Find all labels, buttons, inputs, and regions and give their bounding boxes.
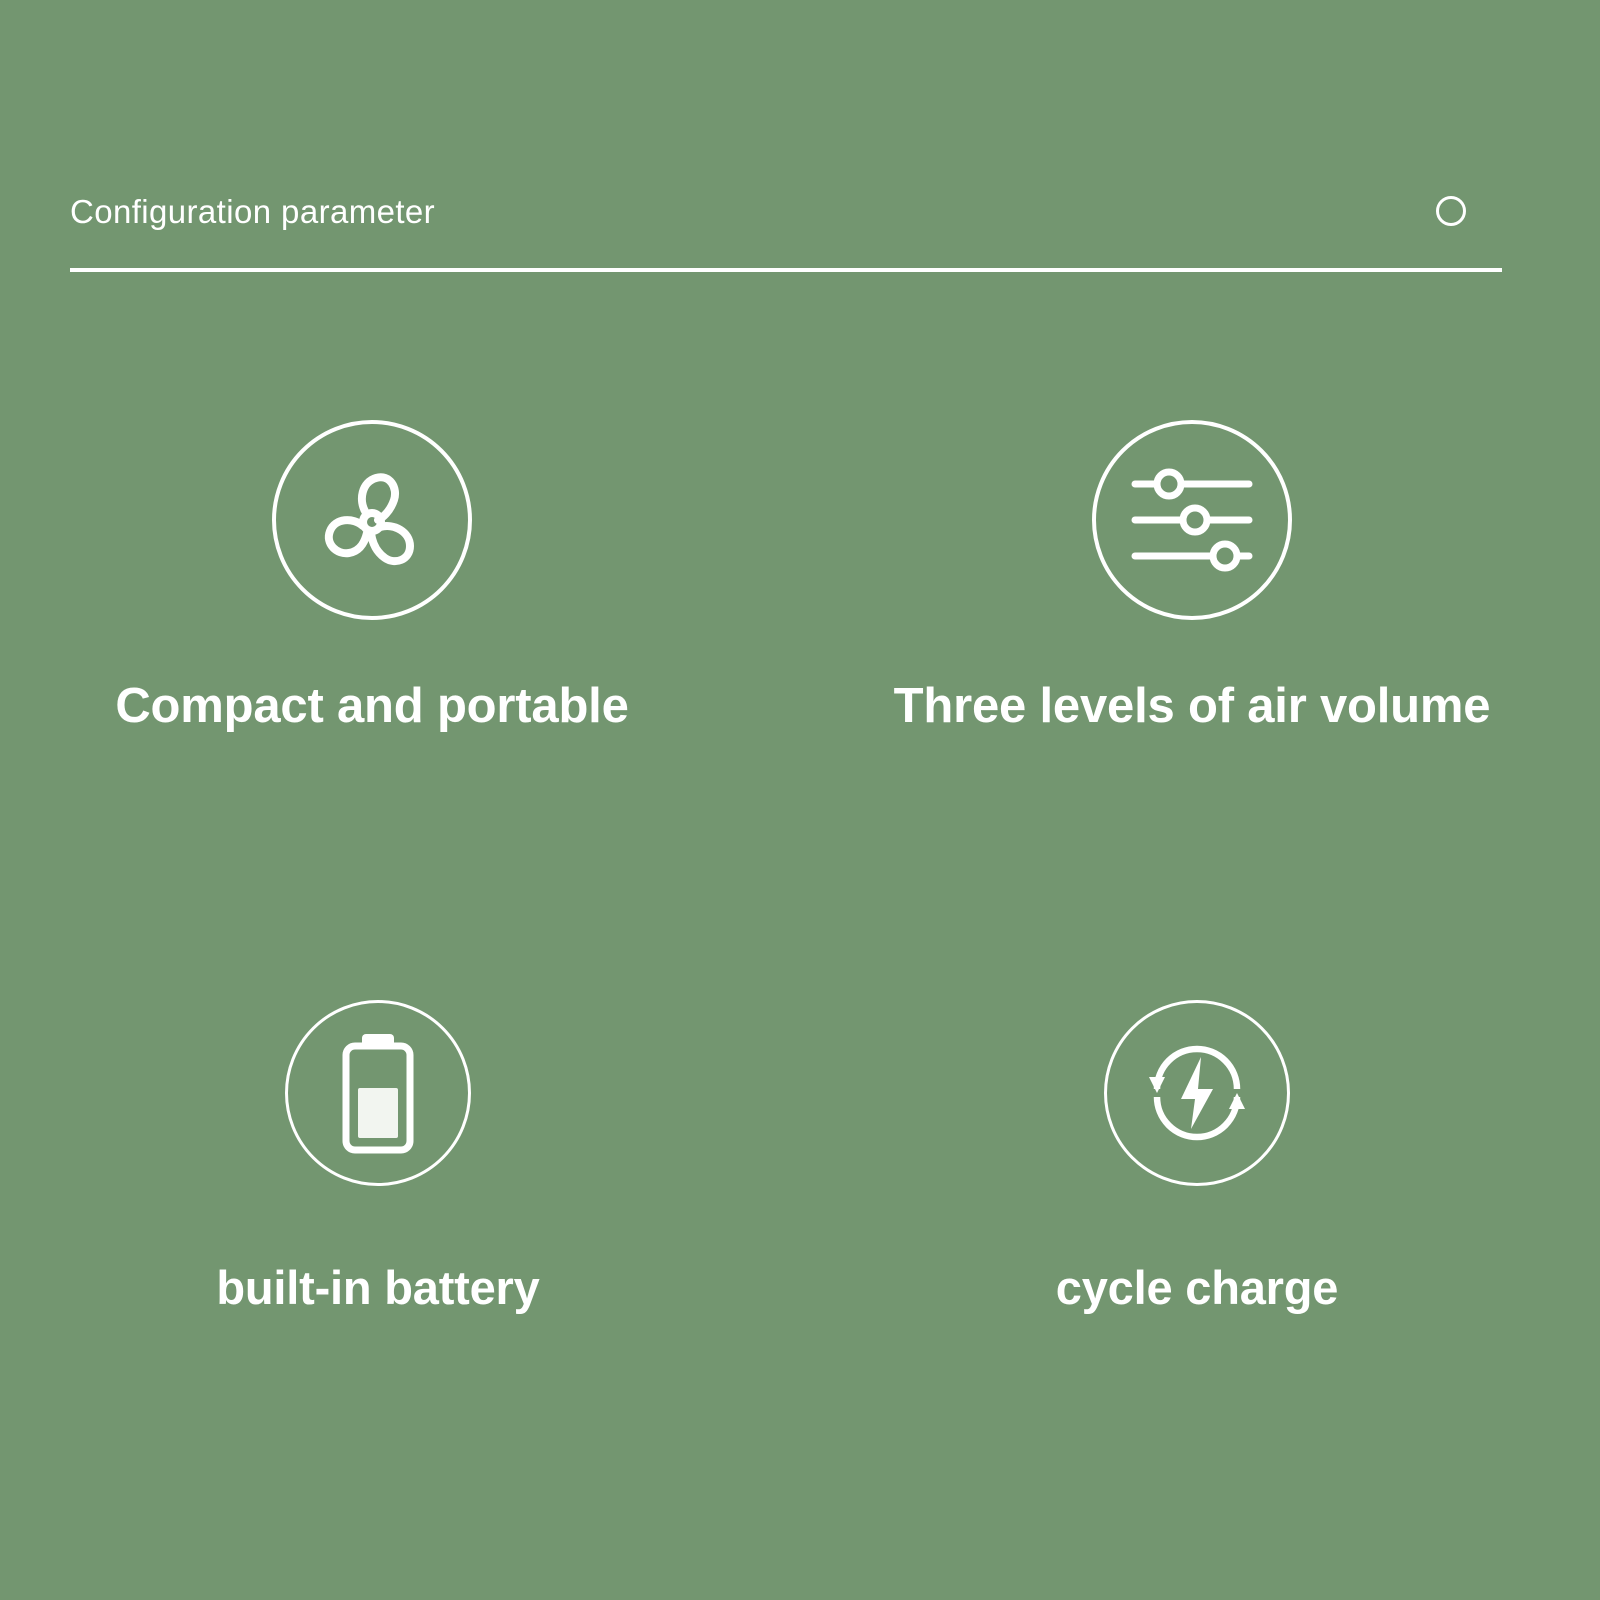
feature-item-cycle-charge[interactable]: cycle charge	[797, 1000, 1597, 1580]
feature-item-battery[interactable]: built-in battery	[0, 1000, 772, 1580]
feature-item-compact[interactable]: Compact and portable	[0, 420, 766, 1000]
recycle-charge-icon	[1104, 1000, 1290, 1186]
feature-label-air-volume: Three levels of air volume	[894, 682, 1491, 731]
feature-label-cycle-charge: cycle charge	[1056, 1264, 1338, 1311]
circle-outline-icon[interactable]	[1436, 196, 1466, 226]
fan-propeller-icon	[272, 420, 472, 620]
feature-label-compact: Compact and portable	[115, 682, 628, 731]
feature-item-air-volume[interactable]: Three levels of air volume	[792, 420, 1592, 1000]
header-divider	[70, 268, 1502, 272]
header: Configuration parameter	[70, 178, 1502, 272]
header-row: Configuration parameter	[70, 178, 1502, 244]
feature-grid: Compact and portable Three levels of air…	[0, 420, 1600, 1580]
battery-icon	[285, 1000, 471, 1186]
page-title: Configuration parameter	[70, 195, 435, 228]
sliders-icon	[1092, 420, 1292, 620]
feature-label-battery: built-in battery	[216, 1264, 539, 1311]
